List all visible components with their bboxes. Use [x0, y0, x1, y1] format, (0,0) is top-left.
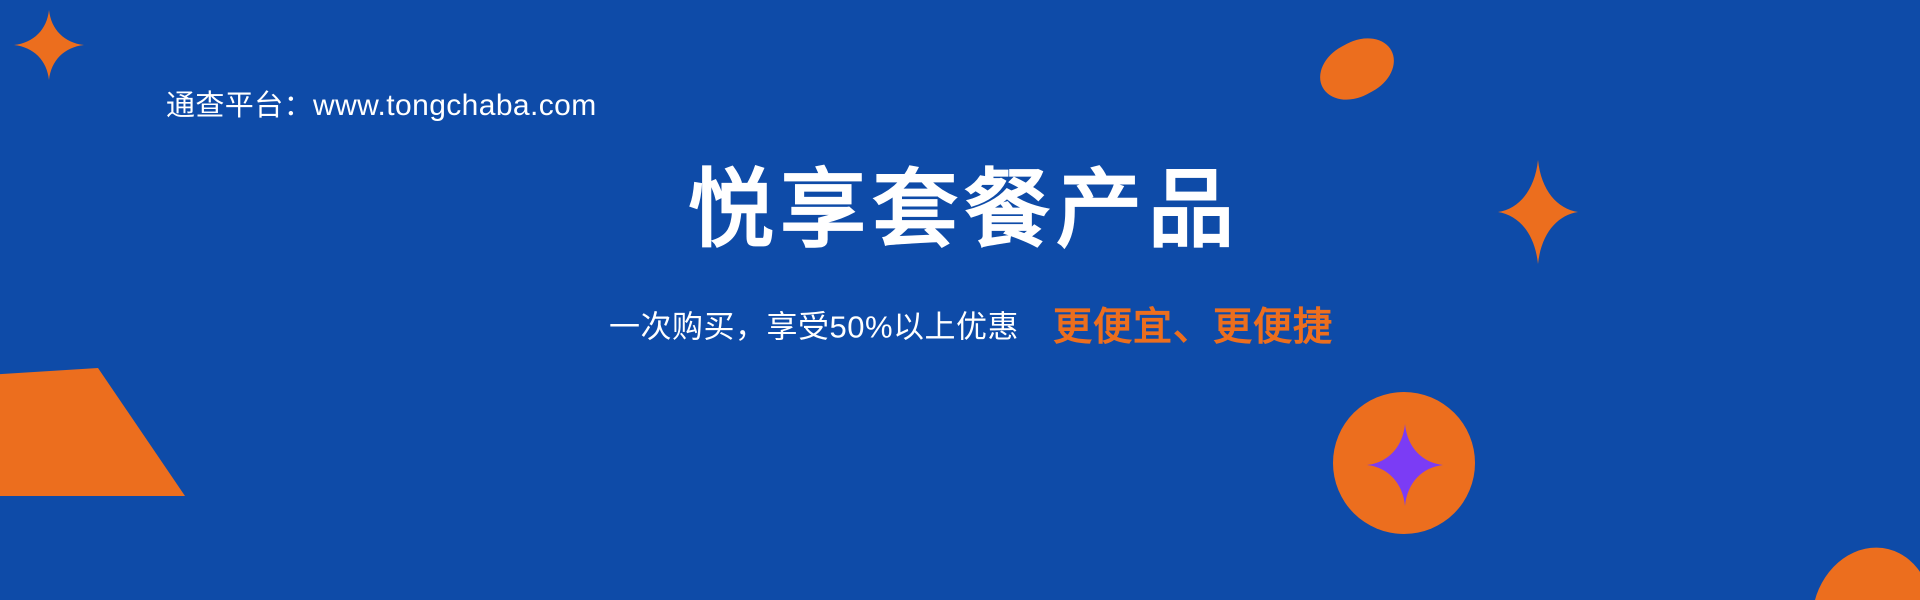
site-url: www.tongchaba.com — [313, 89, 597, 122]
page-title: 悦享套餐产品 — [0, 158, 1920, 262]
promo-banner: 通查平台：www.tongchaba.com 悦享套餐产品 一次购买，享受50%… — [0, 0, 1920, 600]
site-label: 通查平台： — [166, 90, 313, 122]
subtitle-accent: 更便宜、更便捷 — [1053, 306, 1333, 349]
sparkle-icon — [14, 6, 84, 84]
subtitle-line: 一次购买，享受50%以上优惠更便宜、更便捷 — [0, 296, 1920, 352]
blob-shape — [1812, 535, 1920, 600]
triangle-shape — [0, 368, 185, 496]
circle-shape — [1333, 392, 1475, 534]
sparkle-icon — [1367, 424, 1443, 506]
subtitle-plain: 一次购买，享受50%以上优惠 — [609, 310, 1019, 345]
site-line: 通查平台：www.tongchaba.com — [166, 86, 597, 126]
pill-shape — [1310, 27, 1404, 111]
